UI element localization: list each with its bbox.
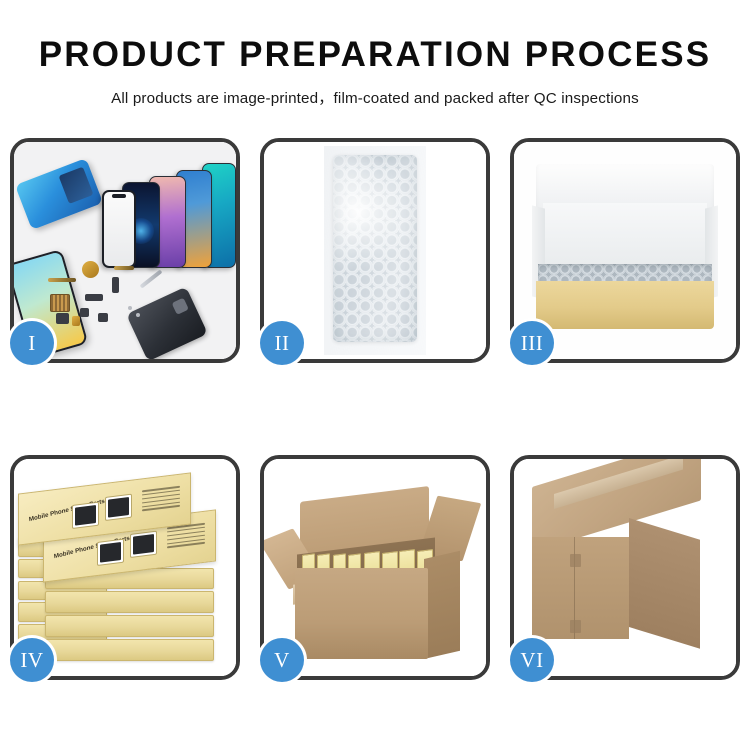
box-art-phone-icon bbox=[129, 530, 156, 557]
tweezers-icon bbox=[140, 269, 163, 288]
step-badge-2: II bbox=[260, 321, 304, 365]
phone-lineup bbox=[103, 155, 236, 268]
button-part-icon bbox=[80, 308, 89, 317]
step-badge-3: III bbox=[510, 321, 554, 365]
process-step-grid: I II III bbox=[10, 138, 740, 680]
spare-parts-group bbox=[45, 259, 178, 346]
screw-icon bbox=[136, 313, 140, 317]
process-step-panel-2: II bbox=[260, 138, 490, 363]
phone-screen-glass-icon bbox=[102, 190, 136, 268]
connector-icon bbox=[112, 277, 119, 293]
flex-cable-icon bbox=[48, 278, 76, 282]
bubble-wrap-gloss bbox=[333, 155, 417, 342]
process-step-panel-5: V bbox=[260, 455, 490, 680]
ic-chip-icon bbox=[50, 294, 70, 312]
step-badge-6: VI bbox=[510, 638, 554, 682]
process-step-panel-6: VI bbox=[510, 455, 740, 680]
speaker-part-icon bbox=[82, 261, 99, 278]
carton-side-face bbox=[424, 551, 460, 659]
carton-front-face bbox=[295, 568, 428, 659]
retail-box-edge bbox=[45, 639, 214, 661]
retail-box-edge bbox=[45, 591, 214, 613]
kraft-box-body bbox=[536, 281, 714, 329]
receiver-icon bbox=[98, 313, 108, 322]
step-badge-1: I bbox=[10, 321, 54, 365]
box-art-phone-icon bbox=[105, 494, 132, 521]
step-badge-4: IV bbox=[10, 638, 54, 682]
box-spec-lines bbox=[143, 486, 181, 514]
screw-icon bbox=[128, 306, 132, 310]
header: PRODUCT PREPARATION PROCESS All products… bbox=[0, 0, 750, 108]
retail-box-edge bbox=[45, 615, 214, 637]
process-step-panel-4: Mobile Phone Spare Parts Mobile Phone Sp… bbox=[10, 455, 240, 680]
carton-tab bbox=[570, 554, 581, 567]
step-badge-5: V bbox=[260, 638, 304, 682]
flex-cable-small-icon bbox=[114, 266, 134, 270]
page-title: PRODUCT PREPARATION PROCESS bbox=[0, 36, 750, 75]
box-art-phone-icon bbox=[72, 501, 99, 528]
vibrator-icon bbox=[56, 313, 69, 324]
box-art-phone-icon bbox=[97, 538, 124, 565]
carton-tab bbox=[570, 620, 581, 633]
process-step-panel-1: I bbox=[10, 138, 240, 363]
process-step-panel-3: III bbox=[510, 138, 740, 363]
carton-right-face bbox=[629, 518, 700, 648]
camera-module-icon bbox=[85, 294, 103, 301]
product-preparation-infographic: PRODUCT PREPARATION PROCESS All products… bbox=[0, 0, 750, 750]
sim-tray-icon bbox=[72, 316, 80, 326]
page-subtitle: All products are image-printed，film-coat… bbox=[0, 86, 750, 108]
